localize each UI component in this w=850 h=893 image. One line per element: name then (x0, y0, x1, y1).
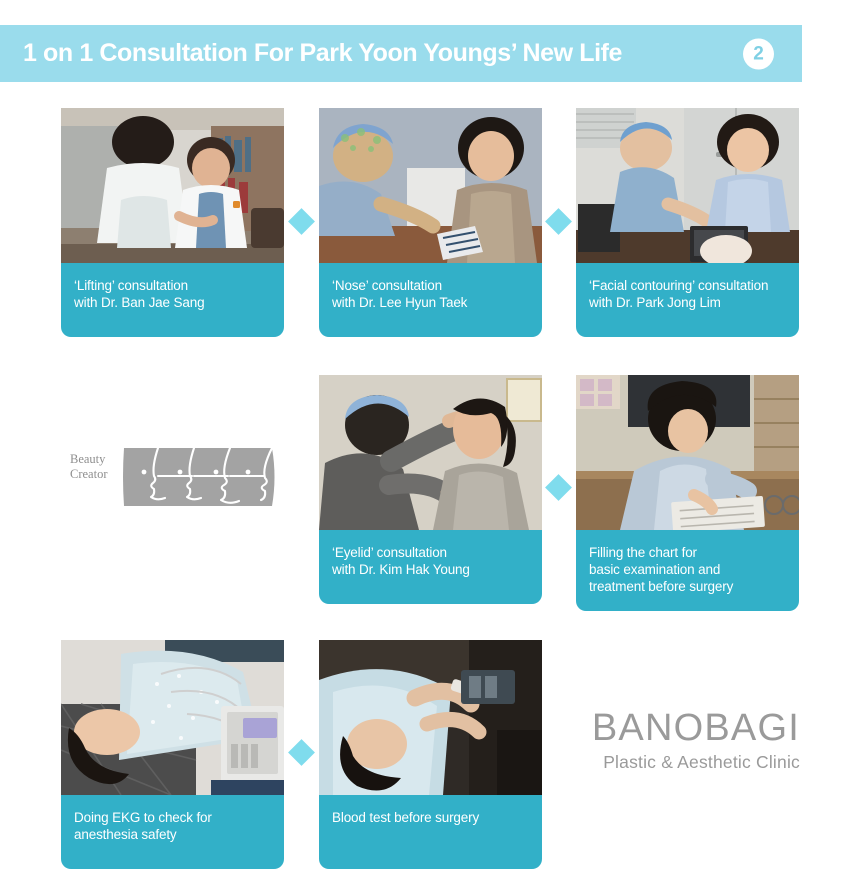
beauty-creator-line2: Creator (70, 467, 107, 481)
photo-ekg-check (61, 640, 284, 795)
caption-line: Blood test before surgery (332, 809, 529, 826)
photo-blood-test (319, 640, 542, 795)
caption-ekg-check: Doing EKG to check for anesthesia safety (61, 795, 284, 869)
card-eyelid-consultation[interactable]: ‘Eyelid’ consultation with Dr. Kim Hak Y… (319, 375, 542, 604)
diamond-separator-icon (545, 208, 572, 235)
diamond-separator-icon (288, 208, 315, 235)
caption-line: with Dr. Ban Jae Sang (74, 294, 271, 311)
diamond-separator-icon (288, 739, 315, 766)
photo-nose-consultation (319, 108, 542, 263)
card-nose-consultation[interactable]: ‘Nose’ consultation with Dr. Lee Hyun Ta… (319, 108, 542, 337)
caption-line: anesthesia safety (74, 826, 271, 843)
photo-eyelid-consultation (319, 375, 542, 530)
caption-nose-consultation: ‘Nose’ consultation with Dr. Lee Hyun Ta… (319, 263, 542, 337)
caption-line: with Dr. Park Jong Lim (589, 294, 786, 311)
beauty-creator-label: Beauty Creator (70, 452, 107, 482)
brand-subtitle: Plastic & Aesthetic Clinic (575, 751, 800, 773)
photo-filling-chart (576, 375, 799, 530)
beauty-creator-logo: Beauty Creator (62, 440, 277, 510)
caption-line: ‘Facial contouring’ consultation (589, 277, 786, 294)
caption-facial-contouring-consultation: ‘Facial contouring’ consultation with Dr… (576, 263, 799, 337)
card-lifting-consultation[interactable]: ‘Lifting’ consultation with Dr. Ban Jae … (61, 108, 284, 337)
caption-line: with Dr. Lee Hyun Taek (332, 294, 529, 311)
caption-line: ‘Lifting’ consultation (74, 277, 271, 294)
brand-name: BANOBAGI (575, 707, 800, 749)
card-blood-test[interactable]: Blood test before surgery (319, 640, 542, 869)
caption-filling-chart: Filling the chart for basic examination … (576, 530, 799, 611)
caption-line: treatment before surgery (589, 578, 786, 595)
beauty-creator-faces-icon (122, 440, 277, 510)
photo-facial-contouring-consultation (576, 108, 799, 263)
caption-line: basic examination and (589, 561, 786, 578)
card-facial-contouring-consultation[interactable]: ‘Facial contouring’ consultation with Dr… (576, 108, 799, 337)
card-filling-chart[interactable]: Filling the chart for basic examination … (576, 375, 799, 611)
content-board: ‘Lifting’ consultation with Dr. Ban Jae … (0, 0, 850, 893)
caption-line: ‘Nose’ consultation (332, 277, 529, 294)
photo-lifting-consultation (61, 108, 284, 263)
caption-blood-test: Blood test before surgery (319, 795, 542, 869)
card-ekg-check[interactable]: Doing EKG to check for anesthesia safety (61, 640, 284, 869)
banobagi-brand-logo: BANOBAGI Plastic & Aesthetic Clinic (575, 707, 800, 773)
caption-line: Doing EKG to check for (74, 809, 271, 826)
caption-line: ‘Eyelid’ consultation (332, 544, 529, 561)
diamond-separator-icon (545, 474, 572, 501)
caption-line: Filling the chart for (589, 544, 786, 561)
caption-lifting-consultation: ‘Lifting’ consultation with Dr. Ban Jae … (61, 263, 284, 337)
caption-eyelid-consultation: ‘Eyelid’ consultation with Dr. Kim Hak Y… (319, 530, 542, 604)
caption-line: with Dr. Kim Hak Young (332, 561, 529, 578)
beauty-creator-line1: Beauty (70, 452, 105, 466)
